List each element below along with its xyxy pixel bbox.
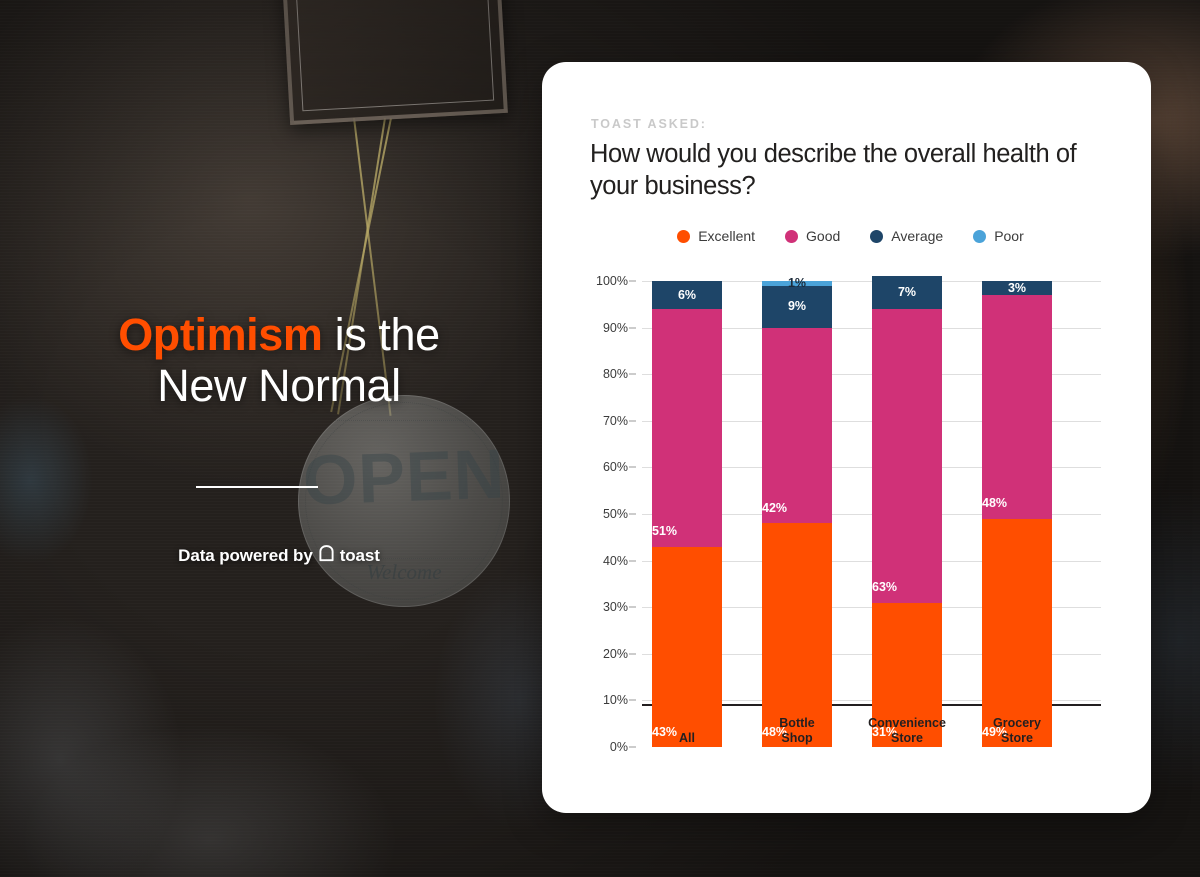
x-axis-category-line: Convenience — [868, 716, 946, 730]
attribution-prefix: Data powered by — [178, 546, 313, 566]
x-axis-category-label: GroceryStore — [957, 716, 1077, 746]
bar-segment-good[interactable]: 51% — [652, 309, 722, 547]
y-axis-tick-label: 70% — [603, 414, 628, 428]
attribution: Data powered by toast — [0, 545, 540, 567]
legend-label: Poor — [994, 228, 1024, 244]
y-axis-tick-mark — [629, 653, 636, 654]
legend-swatch-average-icon — [870, 230, 883, 243]
y-axis: 0%10%20%30%40%50%60%70%80%90%100% — [580, 274, 636, 706]
y-axis-tick-label: 40% — [603, 554, 628, 568]
headline-accent-word: Optimism — [118, 309, 322, 360]
y-axis-tick-mark — [629, 327, 636, 328]
legend-item-poor[interactable]: Poor — [973, 228, 1024, 244]
chart-title: How would you describe the overall healt… — [590, 138, 1110, 202]
y-axis-tick-mark — [629, 467, 636, 468]
y-axis-tick-mark — [629, 607, 636, 608]
bar-segment-value-label: 6% — [678, 289, 696, 302]
y-axis-tick-label: 60% — [603, 460, 628, 474]
bar-segment-excellent[interactable]: 48% — [762, 523, 832, 747]
legend-swatch-good-icon — [785, 230, 798, 243]
legend-item-excellent[interactable]: Excellent — [677, 228, 755, 244]
y-axis-tick-mark — [629, 374, 636, 375]
x-axis-category-line: All — [679, 731, 695, 745]
bar-segment-average[interactable]: 7% — [872, 276, 942, 309]
y-axis-tick-mark — [629, 747, 636, 748]
legend-item-average[interactable]: Average — [870, 228, 943, 244]
hero-divider — [196, 486, 318, 488]
y-axis-tick-mark — [629, 700, 636, 701]
y-axis-tick-mark — [629, 560, 636, 561]
plot-inner: 43%51%6%48%42%9%1%31%63%7%49%48%3% — [642, 281, 1143, 747]
bar-column[interactable]: 48%42%9%1% — [762, 281, 832, 747]
chart-legend: ExcellentGoodAveragePoor — [590, 228, 1111, 244]
bar-segment-good[interactable]: 48% — [982, 295, 1052, 519]
bar-segment-value-label: 48% — [982, 497, 1007, 510]
y-axis-tick-mark — [629, 420, 636, 421]
legend-label: Excellent — [698, 228, 755, 244]
y-axis-tick-mark — [629, 514, 636, 515]
bar-segment-value-label: 3% — [1008, 282, 1026, 295]
bar-segment-average[interactable]: 3% — [982, 281, 1052, 295]
hero-text-block: Optimism is the New Normal Data powered … — [0, 0, 540, 877]
bar-segment-value-label: 9% — [788, 300, 806, 313]
y-axis-tick-mark — [629, 281, 636, 282]
bar-segment-average[interactable]: 6% — [652, 281, 722, 309]
bar-segment-value-label: 7% — [898, 286, 916, 299]
bar-segment-good[interactable]: 42% — [762, 328, 832, 524]
bar-column[interactable]: 43%51%6% — [652, 281, 722, 747]
bar-segment-good[interactable]: 63% — [872, 309, 942, 603]
bar-segment-excellent[interactable]: 49% — [982, 519, 1052, 747]
y-axis-tick-label: 100% — [596, 274, 628, 288]
y-axis-tick-label: 0% — [610, 740, 628, 754]
bar-segment-average[interactable]: 9% — [762, 286, 832, 328]
x-axis-category-line: Bottle — [779, 716, 814, 730]
y-axis-tick-label: 50% — [603, 507, 628, 521]
plot-area: 43%51%6%48%42%9%1%31%63%7%49%48%3% — [642, 281, 1143, 747]
y-axis-tick-label: 80% — [603, 367, 628, 381]
x-axis-category-line: Shop — [781, 731, 812, 745]
toast-loaf-icon — [318, 545, 335, 567]
chart-card: TOAST ASKED: How would you describe the … — [542, 62, 1151, 813]
bar-segment-value-label: 42% — [762, 502, 787, 515]
bar-segment-poor[interactable]: 1% — [762, 281, 832, 286]
x-axis-category-line: Store — [891, 731, 923, 745]
legend-label: Average — [891, 228, 943, 244]
stacked-bar-chart: 0%10%20%30%40%50%60%70%80%90%100% 43%51%… — [580, 274, 1143, 772]
y-axis-tick-label: 20% — [603, 647, 628, 661]
bar-segment-value-label: 1% — [788, 277, 806, 290]
card-eyebrow: TOAST ASKED: — [591, 117, 707, 131]
y-axis-tick-label: 10% — [603, 693, 628, 707]
y-axis-tick-label: 30% — [603, 600, 628, 614]
brand-name: toast — [340, 546, 380, 566]
headline-line-2: New Normal — [157, 360, 401, 411]
bar-segment-value-label: 63% — [872, 581, 897, 594]
bar-column[interactable]: 31%63%7% — [872, 281, 942, 747]
page-title: Optimism is the New Normal — [0, 309, 540, 411]
x-axis-category-line: Store — [1001, 731, 1033, 745]
x-axis-category-line: Grocery — [993, 716, 1041, 730]
x-axis-category-label: All — [627, 731, 747, 746]
bar-segment-excellent[interactable]: 43% — [652, 547, 722, 747]
bar-column[interactable]: 49%48%3% — [982, 281, 1052, 747]
legend-item-good[interactable]: Good — [785, 228, 840, 244]
y-axis-tick-label: 90% — [603, 321, 628, 335]
legend-label: Good — [806, 228, 840, 244]
headline-rest: is the — [323, 309, 440, 360]
x-axis-category-label: ConvenienceStore — [847, 716, 967, 746]
x-axis-category-label: BottleShop — [737, 716, 857, 746]
bar-segment-value-label: 51% — [652, 525, 677, 538]
legend-swatch-excellent-icon — [677, 230, 690, 243]
legend-swatch-poor-icon — [973, 230, 986, 243]
